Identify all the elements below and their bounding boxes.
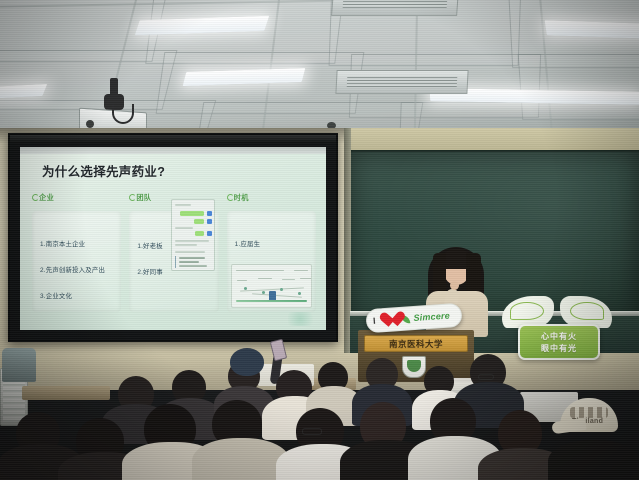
roadmap-baseline [236, 300, 307, 302]
university-name: 南京医科大学 [389, 338, 443, 350]
screen-roller-bar [10, 135, 336, 143]
sign-prefix: I [373, 316, 376, 326]
eyeglasses-icon [478, 374, 494, 380]
bullet-item: 3.企业文化 [40, 291, 72, 300]
column-heading: 时机 [227, 193, 316, 203]
wing-right-swirl-icon [570, 302, 604, 320]
audience: Thailand [0, 352, 639, 480]
projector-lens-icon [86, 120, 94, 128]
slide-column-company: 企业 1.南京本土企业 2.先声创新投入及产出 3.企业文化 [32, 193, 121, 312]
chalkboard-top-trim [344, 128, 639, 150]
wing-left-swirl-icon [510, 302, 544, 320]
audience-head-with-cap [230, 348, 264, 376]
presentation-slide: 为什么选择先声药业? 企业 1.南京本土企业 2.先声创新投入及产出 3.企业文… [20, 147, 326, 330]
bullet-item: 2.好同事 [137, 267, 163, 276]
suspended-ceiling [0, 0, 639, 136]
presenter-hand [450, 281, 459, 290]
ac-vent [335, 70, 468, 94]
slogan-line-1: 心中有火 [541, 331, 577, 342]
slide-column-timing: 时机 1.应届生 2.新员工培养体系 [227, 193, 316, 312]
wechat-chat-screenshot [171, 199, 215, 271]
slide-top-band [20, 147, 326, 154]
university-plaque: 南京医科大学 [364, 335, 468, 352]
bullet-item: 1.应届生 [235, 239, 261, 248]
slide-title: 为什么选择先声药业? [42, 161, 165, 180]
bullet-item: 1.南京本土企业 [40, 239, 85, 248]
audience-shoulders [548, 440, 639, 480]
eyeglasses-icon [302, 428, 322, 435]
elephant-graphic-icon [570, 407, 608, 418]
projection-screen: 为什么选择先声药业? 企业 1.南京本土企业 2.先声创新投入及产出 3.企业文… [8, 133, 338, 342]
heart-icon [379, 312, 397, 328]
slide-column-team: 团队 [129, 193, 218, 312]
column-heading: 企业 [32, 193, 121, 203]
ac-vent [331, 0, 459, 16]
bullet-item: 1.好老板 [137, 241, 163, 250]
simcere-wordmark: Simcere [413, 311, 450, 324]
lecture-hall-scene: 为什么选择先声药业? 企业 1.南京本土企业 2.先声创新投入及产出 3.企业文… [0, 0, 639, 480]
career-roadmap-diagram [231, 264, 312, 308]
simcere-watermark [288, 312, 318, 326]
bullet-item: 2.先声创新投入及产出 [40, 265, 105, 274]
slide-columns: 企业 1.南京本土企业 2.先声创新投入及产出 3.企业文化 团队 [32, 193, 316, 312]
